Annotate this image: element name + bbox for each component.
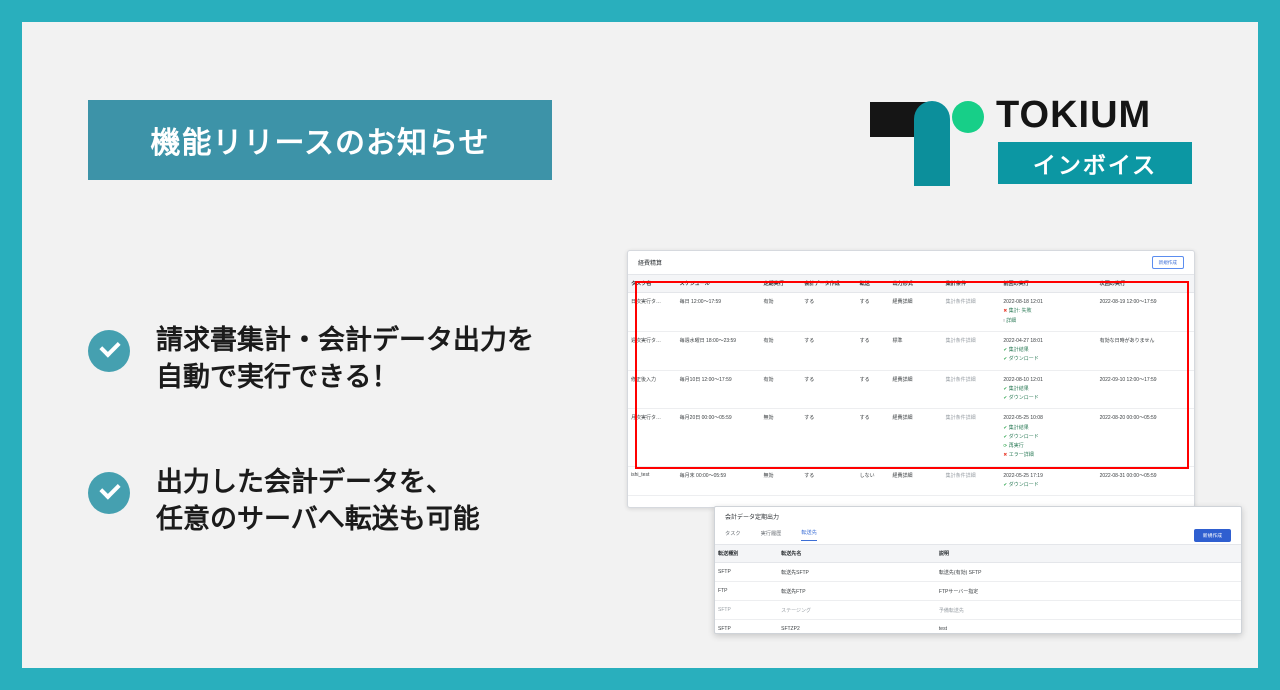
- transfer-table-header: 転送種別転送先名説明: [715, 545, 1241, 563]
- cell-name: 転送先FTP: [778, 582, 936, 601]
- schedule-col-6: 集計条件: [943, 275, 1001, 293]
- cell-task: 日次実行タ…: [628, 293, 677, 332]
- error-icon: ✖: [1003, 308, 1007, 313]
- cell-create-data: する: [801, 466, 856, 496]
- schedule-table-header: タスク名スケジュール定期実行会計データ作成転送出力形式集計条件前回の実行次回の実…: [628, 275, 1194, 293]
- cell-format: 経費詳細: [889, 370, 942, 409]
- cell-schedule: 毎月20日 00:00〜05:59: [677, 409, 761, 466]
- new-task-button[interactable]: 新規作成: [1152, 256, 1184, 269]
- table-row[interactable]: 月次実行タ…毎月20日 00:00〜05:59無効するする経費詳細集計条件詳細2…: [628, 409, 1194, 466]
- cell-last-run: 2022-05-25 10:08✔集計結果✔ダウンロード⟳再実行✖エラー詳細: [1000, 409, 1096, 466]
- run-status-link[interactable]: ダウンロード: [1009, 434, 1039, 440]
- last-run-timestamp: 2022-05-25 17:19: [1003, 472, 1093, 481]
- cell-desc: 予備転送先: [936, 601, 1241, 620]
- cell-transfer: しない: [857, 466, 890, 496]
- cell-next-run: 2022-08-31 00:00〜05:59: [1097, 466, 1194, 496]
- cell-condition: 集計条件詳細: [943, 293, 1001, 332]
- overlay-tab-1[interactable]: 実行履歴: [761, 530, 782, 541]
- overlay-tab-0[interactable]: タスク: [725, 530, 741, 541]
- cell-last-run: 2022-08-18 12:01✖集計: 失敗!詳細: [1000, 293, 1096, 332]
- transfer-col-2: 説明: [936, 545, 1241, 563]
- cell-transfer: する: [857, 293, 890, 332]
- cell-task: 修正後入力: [628, 370, 677, 409]
- overlay-new-button[interactable]: 新規作成: [1194, 529, 1231, 542]
- schedule-col-5: 出力形式: [889, 275, 942, 293]
- transfer-col-0: 転送種別: [715, 545, 778, 563]
- cell-last-run: 2022-04-27 18:01✔集計結果✔ダウンロード: [1000, 331, 1096, 370]
- cell-recurring: 有効: [760, 331, 801, 370]
- cell-desc: test: [936, 620, 1241, 635]
- cell-desc: 転送先(有効) SFTP: [936, 563, 1241, 582]
- cell-condition: 集計条件詳細: [943, 409, 1001, 466]
- feature-bullet-2: 出力した会計データを、 任意のサーバへ転送も可能: [88, 464, 480, 539]
- cell-format: 標準: [889, 331, 942, 370]
- cell-name: SFTZP2: [778, 620, 936, 635]
- transfer-col-1: 転送先名: [778, 545, 936, 563]
- cell-kind: FTP: [715, 582, 778, 601]
- schedule-col-3: 会計データ作成: [801, 275, 856, 293]
- transfer-destination-table: 転送種別転送先名説明 SFTP転送先SFTP転送先(有効) SFTPFTP転送先…: [715, 545, 1241, 634]
- table-row[interactable]: SFTP転送先SFTP転送先(有効) SFTP: [715, 563, 1241, 582]
- cell-condition: 集計条件詳細: [943, 466, 1001, 496]
- check-circle-icon: [88, 472, 130, 514]
- schedule-col-4: 転送: [857, 275, 890, 293]
- check-icon: ✔: [1003, 482, 1007, 487]
- cell-format: 経費詳細: [889, 293, 942, 332]
- cell-condition: 集計条件詳細: [943, 331, 1001, 370]
- table-row[interactable]: 日次実行タ…毎日 12:00〜17:59有効するする経費詳細集計条件詳細2022…: [628, 293, 1194, 332]
- cell-recurring: 有効: [760, 370, 801, 409]
- schedule-app-window: 経費精算 新規作成 タスク名スケジュール定期実行会計データ作成転送出力形式集計条…: [627, 250, 1195, 508]
- slide-canvas: 機能リリースのお知らせ TOKIUM インボイス 請求書集計・会計データ出力を …: [22, 22, 1258, 668]
- schedule-table: タスク名スケジュール定期実行会計データ作成転送出力形式集計条件前回の実行次回の実…: [628, 275, 1194, 496]
- last-run-timestamp: 2022-08-10 12:01: [1003, 376, 1093, 385]
- error-icon: ✖: [1003, 452, 1007, 457]
- cell-schedule: 毎月末 00:00〜05:59: [677, 466, 761, 496]
- run-status-link[interactable]: ダウンロード: [1009, 482, 1039, 488]
- cell-task: 月次実行タ…: [628, 409, 677, 466]
- tokium-logo: TOKIUM インボイス: [870, 92, 1190, 188]
- schedule-col-2: 定期実行: [760, 275, 801, 293]
- logo-product-banner: インボイス: [998, 142, 1192, 184]
- transfer-destination-window: 会計データ定期出力 タスク実行履歴転送先新規作成 転送種別転送先名説明 SFTP…: [714, 506, 1242, 634]
- cell-schedule: 毎月10日 12:00〜17:59: [677, 370, 761, 409]
- overlay-window-header: 会計データ定期出力: [715, 507, 1241, 526]
- run-status-link[interactable]: エラー詳細: [1009, 452, 1034, 458]
- last-run-timestamp: 2022-05-25 10:08: [1003, 414, 1093, 423]
- page-title: 機能リリースのお知らせ: [151, 118, 490, 162]
- cell-recurring: 無効: [760, 409, 801, 466]
- run-status-link[interactable]: 詳細: [1006, 318, 1016, 324]
- cell-last-run: 2022-08-10 12:01✔集計結果✔ダウンロード: [1000, 370, 1096, 409]
- cell-transfer: する: [857, 409, 890, 466]
- cell-recurring: 有効: [760, 293, 801, 332]
- cell-schedule: 毎週水曜日 18:00〜23:59: [677, 331, 761, 370]
- cell-next-run: 2022-08-20 00:00〜05:59: [1097, 409, 1194, 466]
- logo-wordmark: TOKIUM: [996, 94, 1151, 137]
- cell-desc: FTPサーバー指定: [936, 582, 1241, 601]
- app-window-title: 経費精算: [638, 258, 662, 267]
- run-status-link[interactable]: 集計結果: [1009, 386, 1029, 392]
- cell-next-run: 2022-08-19 12:00〜17:59: [1097, 293, 1194, 332]
- logo-teal-bar-icon: [914, 101, 950, 186]
- feature-bullet-1: 請求書集計・会計データ出力を 自動で実行できる！: [88, 322, 534, 397]
- run-status-link[interactable]: 再実行: [1009, 443, 1024, 449]
- cell-next-run: 有効な日時がありません: [1097, 331, 1194, 370]
- cell-name: 転送先SFTP: [778, 563, 936, 582]
- cell-transfer: する: [857, 370, 890, 409]
- app-window-header: 経費精算 新規作成: [628, 251, 1194, 275]
- transfer-table-body: SFTP転送先SFTP転送先(有効) SFTPFTP転送先FTPFTPサーバー指…: [715, 563, 1241, 635]
- run-status-link[interactable]: ダウンロード: [1009, 395, 1039, 401]
- cell-task: 週次実行タ…: [628, 331, 677, 370]
- check-icon: ✔: [1003, 386, 1007, 391]
- overlay-tab-2[interactable]: 転送先: [801, 529, 817, 541]
- cell-kind: SFTP: [715, 563, 778, 582]
- retry-icon: ⟳: [1003, 443, 1007, 448]
- overlay-window-title: 会計データ定期出力: [725, 512, 779, 521]
- run-status-link[interactable]: ダウンロード: [1009, 356, 1039, 362]
- check-icon: ✔: [1003, 347, 1007, 352]
- table-row[interactable]: SFTPステージング予備転送先: [715, 601, 1241, 620]
- feature-bullet-1-text: 請求書集計・会計データ出力を 自動で実行できる！: [156, 322, 534, 397]
- cell-create-data: する: [801, 409, 856, 466]
- logo-product-label: インボイス: [1033, 146, 1157, 180]
- last-run-timestamp: 2022-04-27 18:01: [1003, 337, 1093, 346]
- last-run-timestamp: 2022-08-18 12:01: [1003, 298, 1093, 307]
- logo-mark-icon: [870, 94, 982, 186]
- title-banner: 機能リリースのお知らせ: [88, 100, 552, 180]
- table-row[interactable]: SFTPSFTZP2test: [715, 620, 1241, 635]
- table-row[interactable]: 週次実行タ…毎週水曜日 18:00〜23:59有効するする標準集計条件詳細202…: [628, 331, 1194, 370]
- cell-create-data: する: [801, 293, 856, 332]
- overlay-tab-bar: タスク実行履歴転送先新規作成: [715, 526, 1241, 545]
- logo-green-dot-icon: [952, 101, 984, 133]
- check-icon: ✔: [1003, 425, 1007, 430]
- cell-condition: 集計条件詳細: [943, 370, 1001, 409]
- cell-kind: SFTP: [715, 620, 778, 635]
- cell-create-data: する: [801, 370, 856, 409]
- schedule-table-body: 日次実行タ…毎日 12:00〜17:59有効するする経費詳細集計条件詳細2022…: [628, 293, 1194, 496]
- info-icon: !: [1003, 318, 1004, 323]
- schedule-col-0: タスク名: [628, 275, 677, 293]
- check-icon: ✔: [1003, 395, 1007, 400]
- table-row[interactable]: FTP転送先FTPFTPサーバー指定: [715, 582, 1241, 601]
- run-status-link[interactable]: 集計結果: [1009, 425, 1029, 431]
- check-icon: ✔: [1003, 356, 1007, 361]
- cell-name: ステージング: [778, 601, 936, 620]
- cell-task: ishi_test: [628, 466, 677, 496]
- cell-kind: SFTP: [715, 601, 778, 620]
- cell-format: 経費詳細: [889, 466, 942, 496]
- cell-schedule: 毎日 12:00〜17:59: [677, 293, 761, 332]
- cell-last-run: 2022-05-25 17:19✔ダウンロード: [1000, 466, 1096, 496]
- cell-transfer: する: [857, 331, 890, 370]
- check-icon: ✔: [1003, 434, 1007, 439]
- table-row[interactable]: 修正後入力毎月10日 12:00〜17:59有効するする経費詳細集計条件詳細20…: [628, 370, 1194, 409]
- cell-format: 経費詳細: [889, 409, 942, 466]
- cell-create-data: する: [801, 331, 856, 370]
- schedule-col-1: スケジュール: [677, 275, 761, 293]
- table-row[interactable]: ishi_test毎月末 00:00〜05:59無効するしない経費詳細集計条件詳…: [628, 466, 1194, 496]
- cell-next-run: 2022-09-10 12:00〜17:59: [1097, 370, 1194, 409]
- check-circle-icon: [88, 330, 130, 372]
- run-status-link[interactable]: 集計結果: [1009, 347, 1029, 353]
- run-status-link[interactable]: 集計: 失敗: [1009, 308, 1032, 314]
- cell-recurring: 無効: [760, 466, 801, 496]
- schedule-col-8: 次回の実行: [1097, 275, 1194, 293]
- schedule-col-7: 前回の実行: [1000, 275, 1096, 293]
- feature-bullet-2-text: 出力した会計データを、 任意のサーバへ転送も可能: [156, 464, 480, 539]
